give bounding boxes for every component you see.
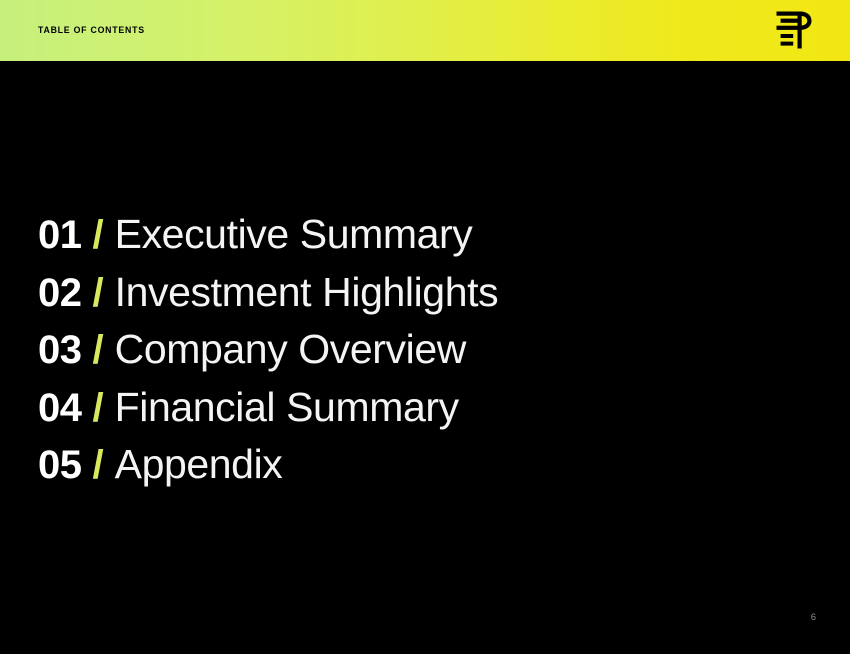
toc-item-label: Company Overview [115, 327, 466, 371]
toc-separator-icon: / [82, 271, 115, 315]
toc-item-number: 05 [38, 443, 82, 487]
toc-item-label: Executive Summary [115, 212, 473, 256]
toc-item-financial-summary[interactable]: 04 / Financial Summary [38, 385, 738, 443]
toc-separator-icon: / [82, 443, 115, 487]
header-band: TABLE OF CONTENTS [0, 0, 850, 61]
toc-separator-icon: / [82, 386, 115, 430]
page-title: TABLE OF CONTENTS [38, 24, 145, 38]
toc-item-investment-highlights[interactable]: 02 / Investment Highlights [38, 270, 738, 328]
toc-item-label: Investment Highlights [115, 270, 499, 314]
toc-separator-icon: / [82, 328, 115, 372]
toc-item-label: Appendix [115, 442, 283, 486]
toc-item-number: 02 [38, 271, 82, 315]
page-number: 6 [811, 612, 816, 624]
toc-item-company-overview[interactable]: 03 / Company Overview [38, 327, 738, 385]
brand-logo-icon [776, 11, 812, 49]
toc-item-number: 03 [38, 328, 82, 372]
toc-item-executive-summary[interactable]: 01 / Executive Summary [38, 212, 738, 270]
toc-item-label: Financial Summary [115, 385, 459, 429]
toc-separator-icon: / [82, 213, 115, 257]
presentation-slide: TABLE OF CONTENTS 01 / Executive Summary [0, 0, 850, 654]
table-of-contents-list: 01 / Executive Summary 02 / Investment H… [38, 212, 738, 500]
toc-item-number: 01 [38, 213, 82, 257]
toc-item-number: 04 [38, 386, 82, 430]
toc-item-appendix[interactable]: 05 / Appendix [38, 442, 738, 500]
